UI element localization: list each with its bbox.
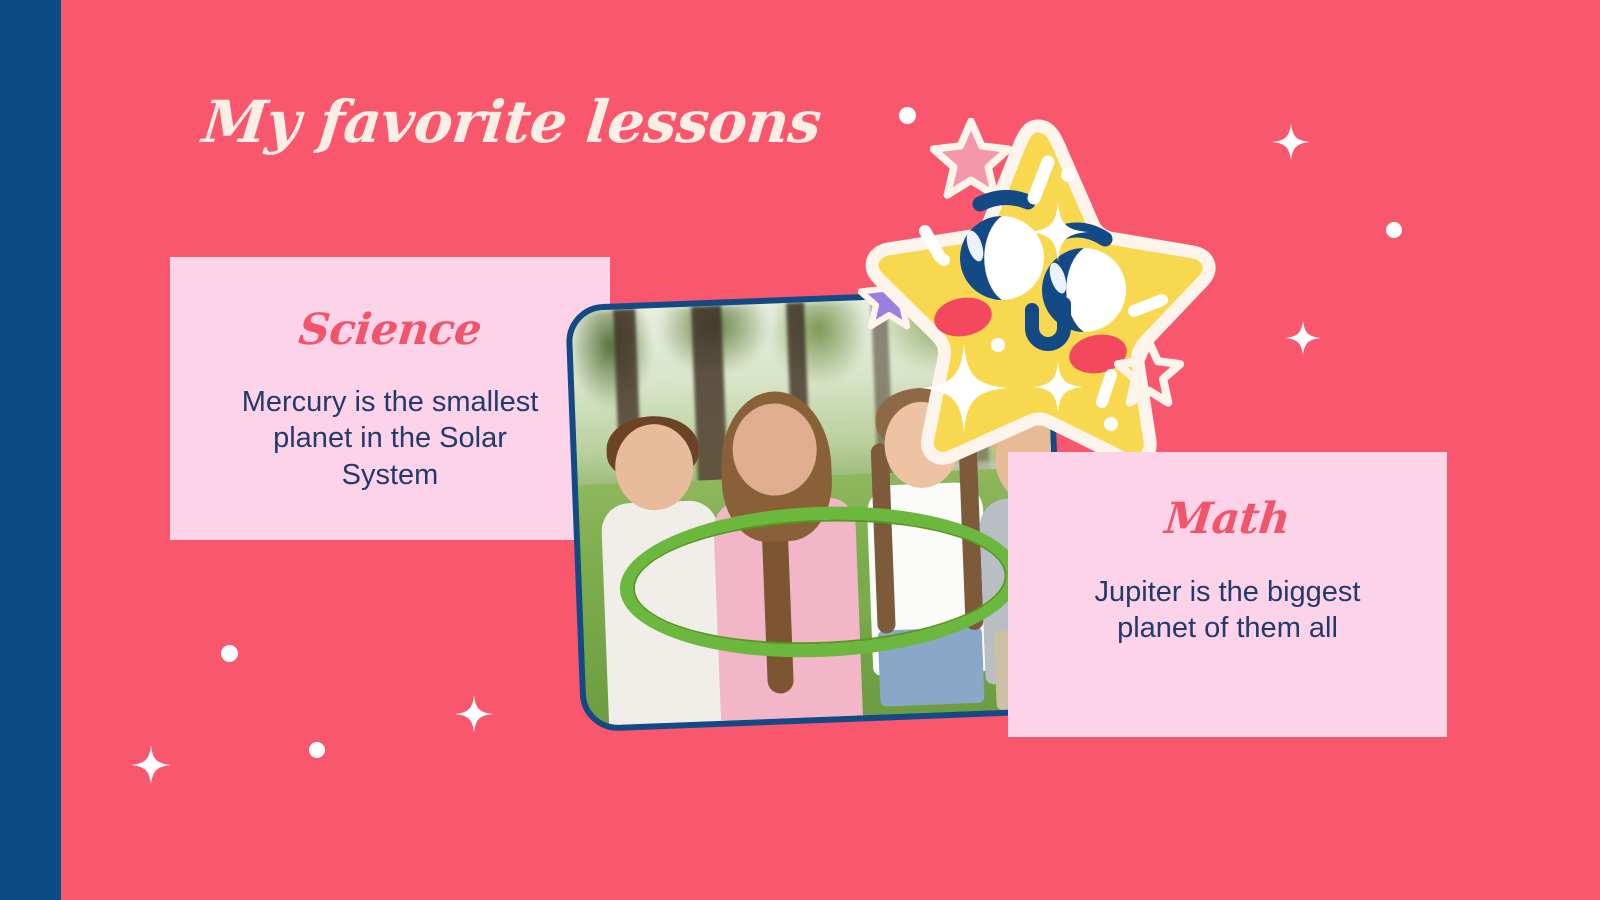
deco-dot bbox=[221, 645, 238, 662]
card-math[interactable]: Math Jupiter is the biggest planet of th… bbox=[1008, 452, 1447, 737]
card-heading-math: Math bbox=[1163, 494, 1293, 544]
sparkle-icon bbox=[1272, 123, 1310, 161]
outlined-star-icon bbox=[1112, 336, 1186, 410]
left-accent-band bbox=[0, 0, 61, 900]
card-body-math: Jupiter is the biggest planet of them al… bbox=[1073, 574, 1383, 647]
sparkle-icon bbox=[131, 745, 171, 785]
page-title: My favorite lessons bbox=[199, 88, 824, 156]
sparkle-icon bbox=[1285, 320, 1321, 356]
slide-canvas: My favorite lessons Science Mercury is t… bbox=[0, 0, 1600, 900]
card-body-science: Mercury is the smallest planet in the So… bbox=[240, 384, 540, 493]
card-science[interactable]: Science Mercury is the smallest planet i… bbox=[170, 257, 610, 540]
deco-dot bbox=[1386, 222, 1402, 238]
sparkle-icon bbox=[455, 695, 493, 733]
deco-dot bbox=[309, 742, 325, 758]
card-heading-science: Science bbox=[296, 305, 483, 355]
